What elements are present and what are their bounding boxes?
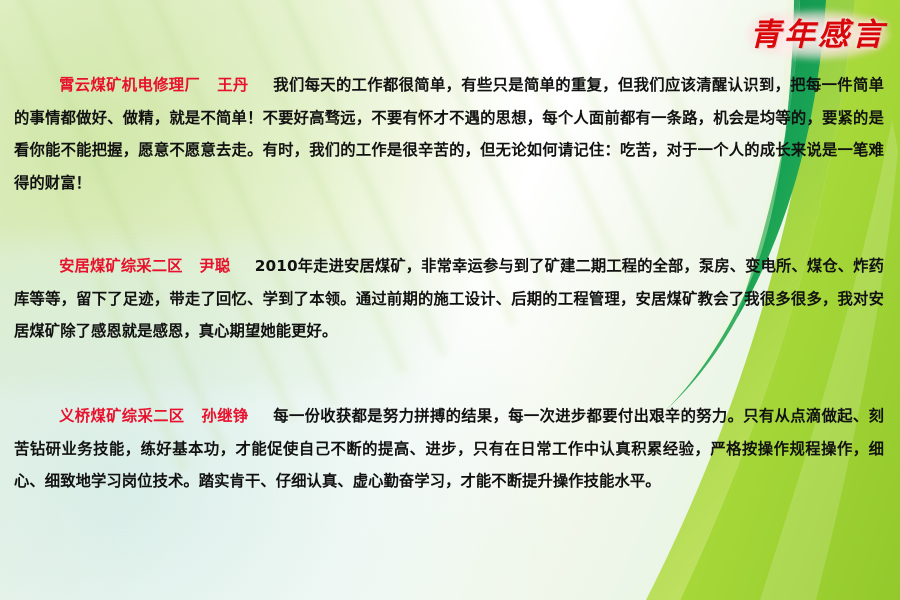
byline-unit: 义桥煤矿综采二区 — [59, 407, 184, 425]
byline: 霄云煤矿机电修理厂王丹 — [59, 76, 248, 94]
byline-name: 王丹 — [217, 76, 249, 94]
slide-canvas: 青年感言 霄云煤矿机电修理厂王丹我们每天的工作都很简单，有些只是简单的重复，但我… — [0, 0, 900, 600]
testimonial-entry: 安居煤矿综采二区尹聪2010年走进安居煤矿，非常幸运参与到了矿建二期工程的全部，… — [14, 250, 884, 348]
byline-unit: 霄云煤矿机电修理厂 — [59, 76, 200, 94]
byline: 义桥煤矿综采二区孙继铮 — [59, 407, 248, 425]
byline-name: 孙继铮 — [201, 407, 248, 425]
testimonial-list: 霄云煤矿机电修理厂王丹我们每天的工作都很简单，有些只是简单的重复，但我们应该清醒… — [0, 0, 900, 600]
byline-name: 尹聪 — [199, 257, 230, 275]
byline-unit: 安居煤矿综采二区 — [59, 257, 182, 275]
byline: 安居煤矿综采二区尹聪 — [59, 257, 230, 275]
testimonial-entry: 义桥煤矿综采二区孙继铮每一份收获都是努力拼搏的结果，每一次进步都要付出艰辛的努力… — [14, 400, 884, 498]
testimonial-entry: 霄云煤矿机电修理厂王丹我们每天的工作都很简单，有些只是简单的重复，但我们应该清醒… — [14, 69, 884, 199]
